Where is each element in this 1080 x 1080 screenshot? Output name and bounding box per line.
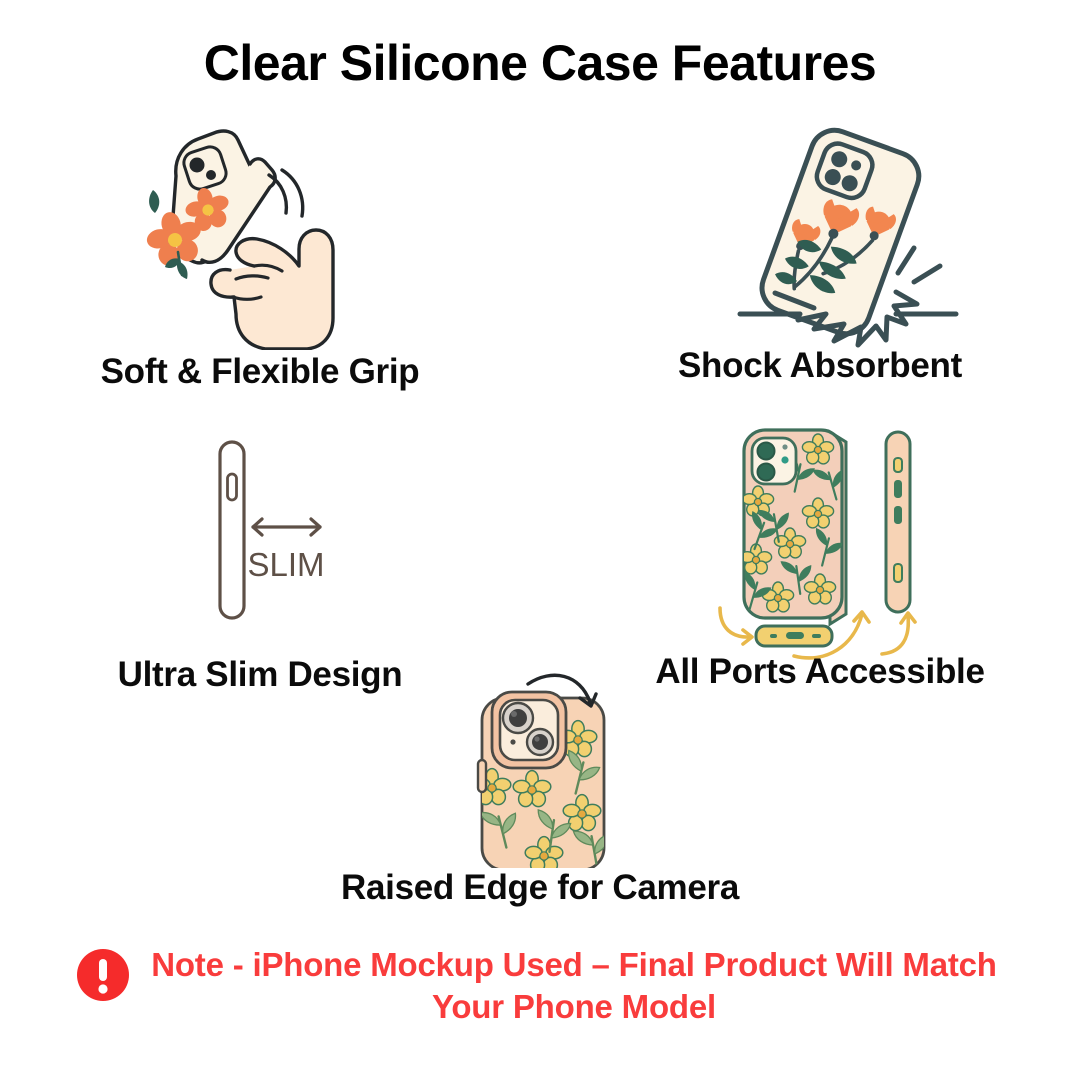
hand-flexing-phone-case-icon bbox=[132, 118, 397, 350]
phone-drop-impact-icon bbox=[718, 118, 970, 350]
phone-ports-cutouts-icon bbox=[706, 418, 944, 662]
phone-side-profile-thickness-icon: SLIM bbox=[180, 428, 365, 632]
note-text: Note - iPhone Mockup Used – Final Produc… bbox=[144, 944, 1004, 1028]
feature-label-grip: Soft & Flexible Grip bbox=[0, 352, 520, 392]
feature-label-raised: Raised Edge for Camera bbox=[130, 868, 950, 908]
phone-raised-camera-bump-icon bbox=[440, 668, 662, 868]
page-title: Clear Silicone Case Features bbox=[0, 34, 1080, 92]
exclamation-circle-icon bbox=[76, 948, 130, 1002]
feature-label-shock: Shock Absorbent bbox=[560, 346, 1080, 386]
feature-infographic-page: Clear Silicone Case Features bbox=[0, 0, 1080, 1080]
note-banner: Note - iPhone Mockup Used – Final Produc… bbox=[0, 944, 1080, 1028]
slim-annotation-text: SLIM bbox=[247, 546, 324, 583]
